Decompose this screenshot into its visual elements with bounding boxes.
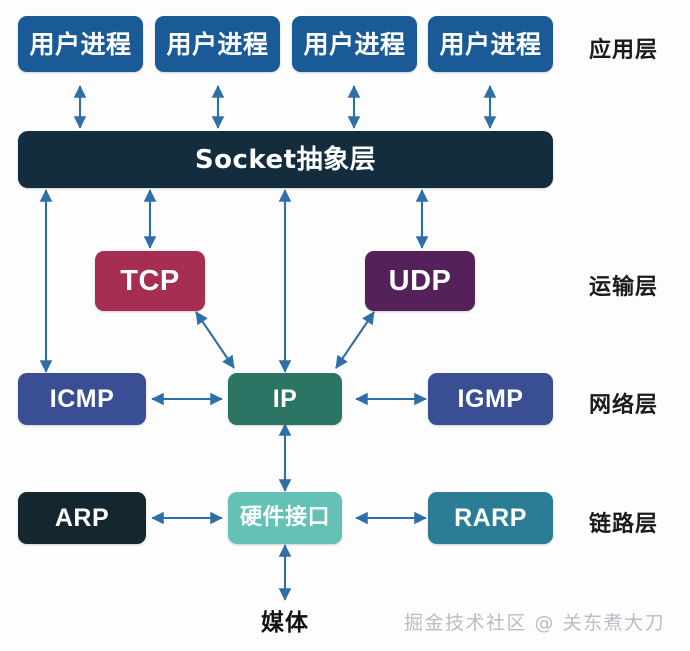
arp-label: ARP [55,506,109,531]
ip-box[interactable]: IP [228,373,342,425]
user-process-label-3: 用户进程 [303,32,405,57]
layer-label-network-text: 网络层 [589,393,658,418]
icmp-label: ICMP [50,387,115,412]
arrow-tcp-ip [196,312,234,368]
user-process-box-2[interactable]: 用户进程 [155,16,280,72]
layer-label-link: 链路层 [589,506,658,538]
media-label-text: 媒体 [261,610,309,636]
arrow-udp-ip [336,312,374,368]
igmp-box[interactable]: IGMP [428,373,553,425]
layer-label-link-text: 链路层 [589,512,658,537]
socket-abstraction-layer-label: Socket抽象层 [195,147,376,173]
arp-box[interactable]: ARP [18,492,146,544]
hardware-interface-box[interactable]: 硬件接口 [228,492,342,544]
rarp-label: RARP [454,506,527,531]
watermark-text: 掘金技术社区 @ 关东煮大刀 [404,612,665,634]
rarp-box[interactable]: RARP [428,492,553,544]
user-process-box-1[interactable]: 用户进程 [18,16,143,72]
user-process-box-4[interactable]: 用户进程 [428,16,553,72]
user-process-label-2: 用户进程 [166,32,268,57]
layer-label-transport: 运输层 [589,269,658,301]
ip-label: IP [273,387,298,412]
diagram-canvas: 用户进程 用户进程 用户进程 用户进程 应用层 Socket抽象层 TCP UD… [0,0,690,651]
tcp-label: TCP [120,267,180,296]
layer-label-application-text: 应用层 [589,38,658,63]
user-process-box-3[interactable]: 用户进程 [292,16,417,72]
tcp-box[interactable]: TCP [95,251,205,311]
hardware-interface-label: 硬件接口 [240,507,330,529]
socket-abstraction-layer-box[interactable]: Socket抽象层 [18,131,553,188]
layer-label-transport-text: 运输层 [589,275,658,300]
watermark: 掘金技术社区 @ 关东煮大刀 [404,608,665,635]
layer-label-network: 网络层 [589,387,658,419]
arrow-layer [0,0,690,651]
udp-box[interactable]: UDP [365,251,475,311]
igmp-label: IGMP [458,387,524,412]
icmp-box[interactable]: ICMP [18,373,146,425]
user-process-label-1: 用户进程 [29,32,131,57]
media-label: 媒体 [261,603,309,637]
user-process-label-4: 用户进程 [439,32,541,57]
udp-label: UDP [389,267,452,296]
layer-label-application: 应用层 [589,32,658,64]
